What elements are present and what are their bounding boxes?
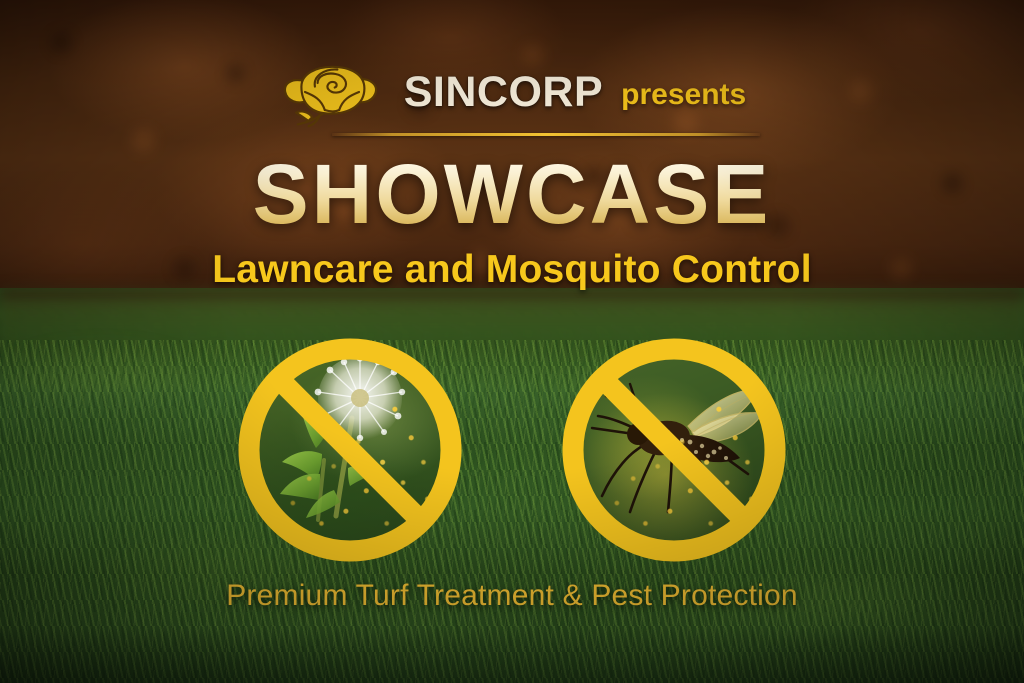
- brand-name: SINCORP: [404, 71, 603, 114]
- page-title: SHOWCASE: [0, 152, 1024, 236]
- badge-no-mosquitoes: [558, 334, 790, 566]
- prohibition-sign-icon: [234, 334, 466, 566]
- prohibition-sign-icon: [558, 334, 790, 566]
- page-tagline: Premium Turf Treatment & Pest Protection: [0, 579, 1024, 612]
- badge-no-weeds: [234, 334, 466, 566]
- grass-depth-shadow: [0, 625, 1024, 683]
- header-divider: [332, 133, 760, 136]
- brand-row: SINCORP presents: [0, 56, 1024, 128]
- page-subtitle: Lawncare and Mosquito Control: [0, 249, 1024, 292]
- presents-label: presents: [621, 80, 746, 110]
- rose-logo-icon: [278, 56, 386, 128]
- promo-poster: SINCORP presents SHOWCASE Lawncare and M…: [0, 0, 1024, 683]
